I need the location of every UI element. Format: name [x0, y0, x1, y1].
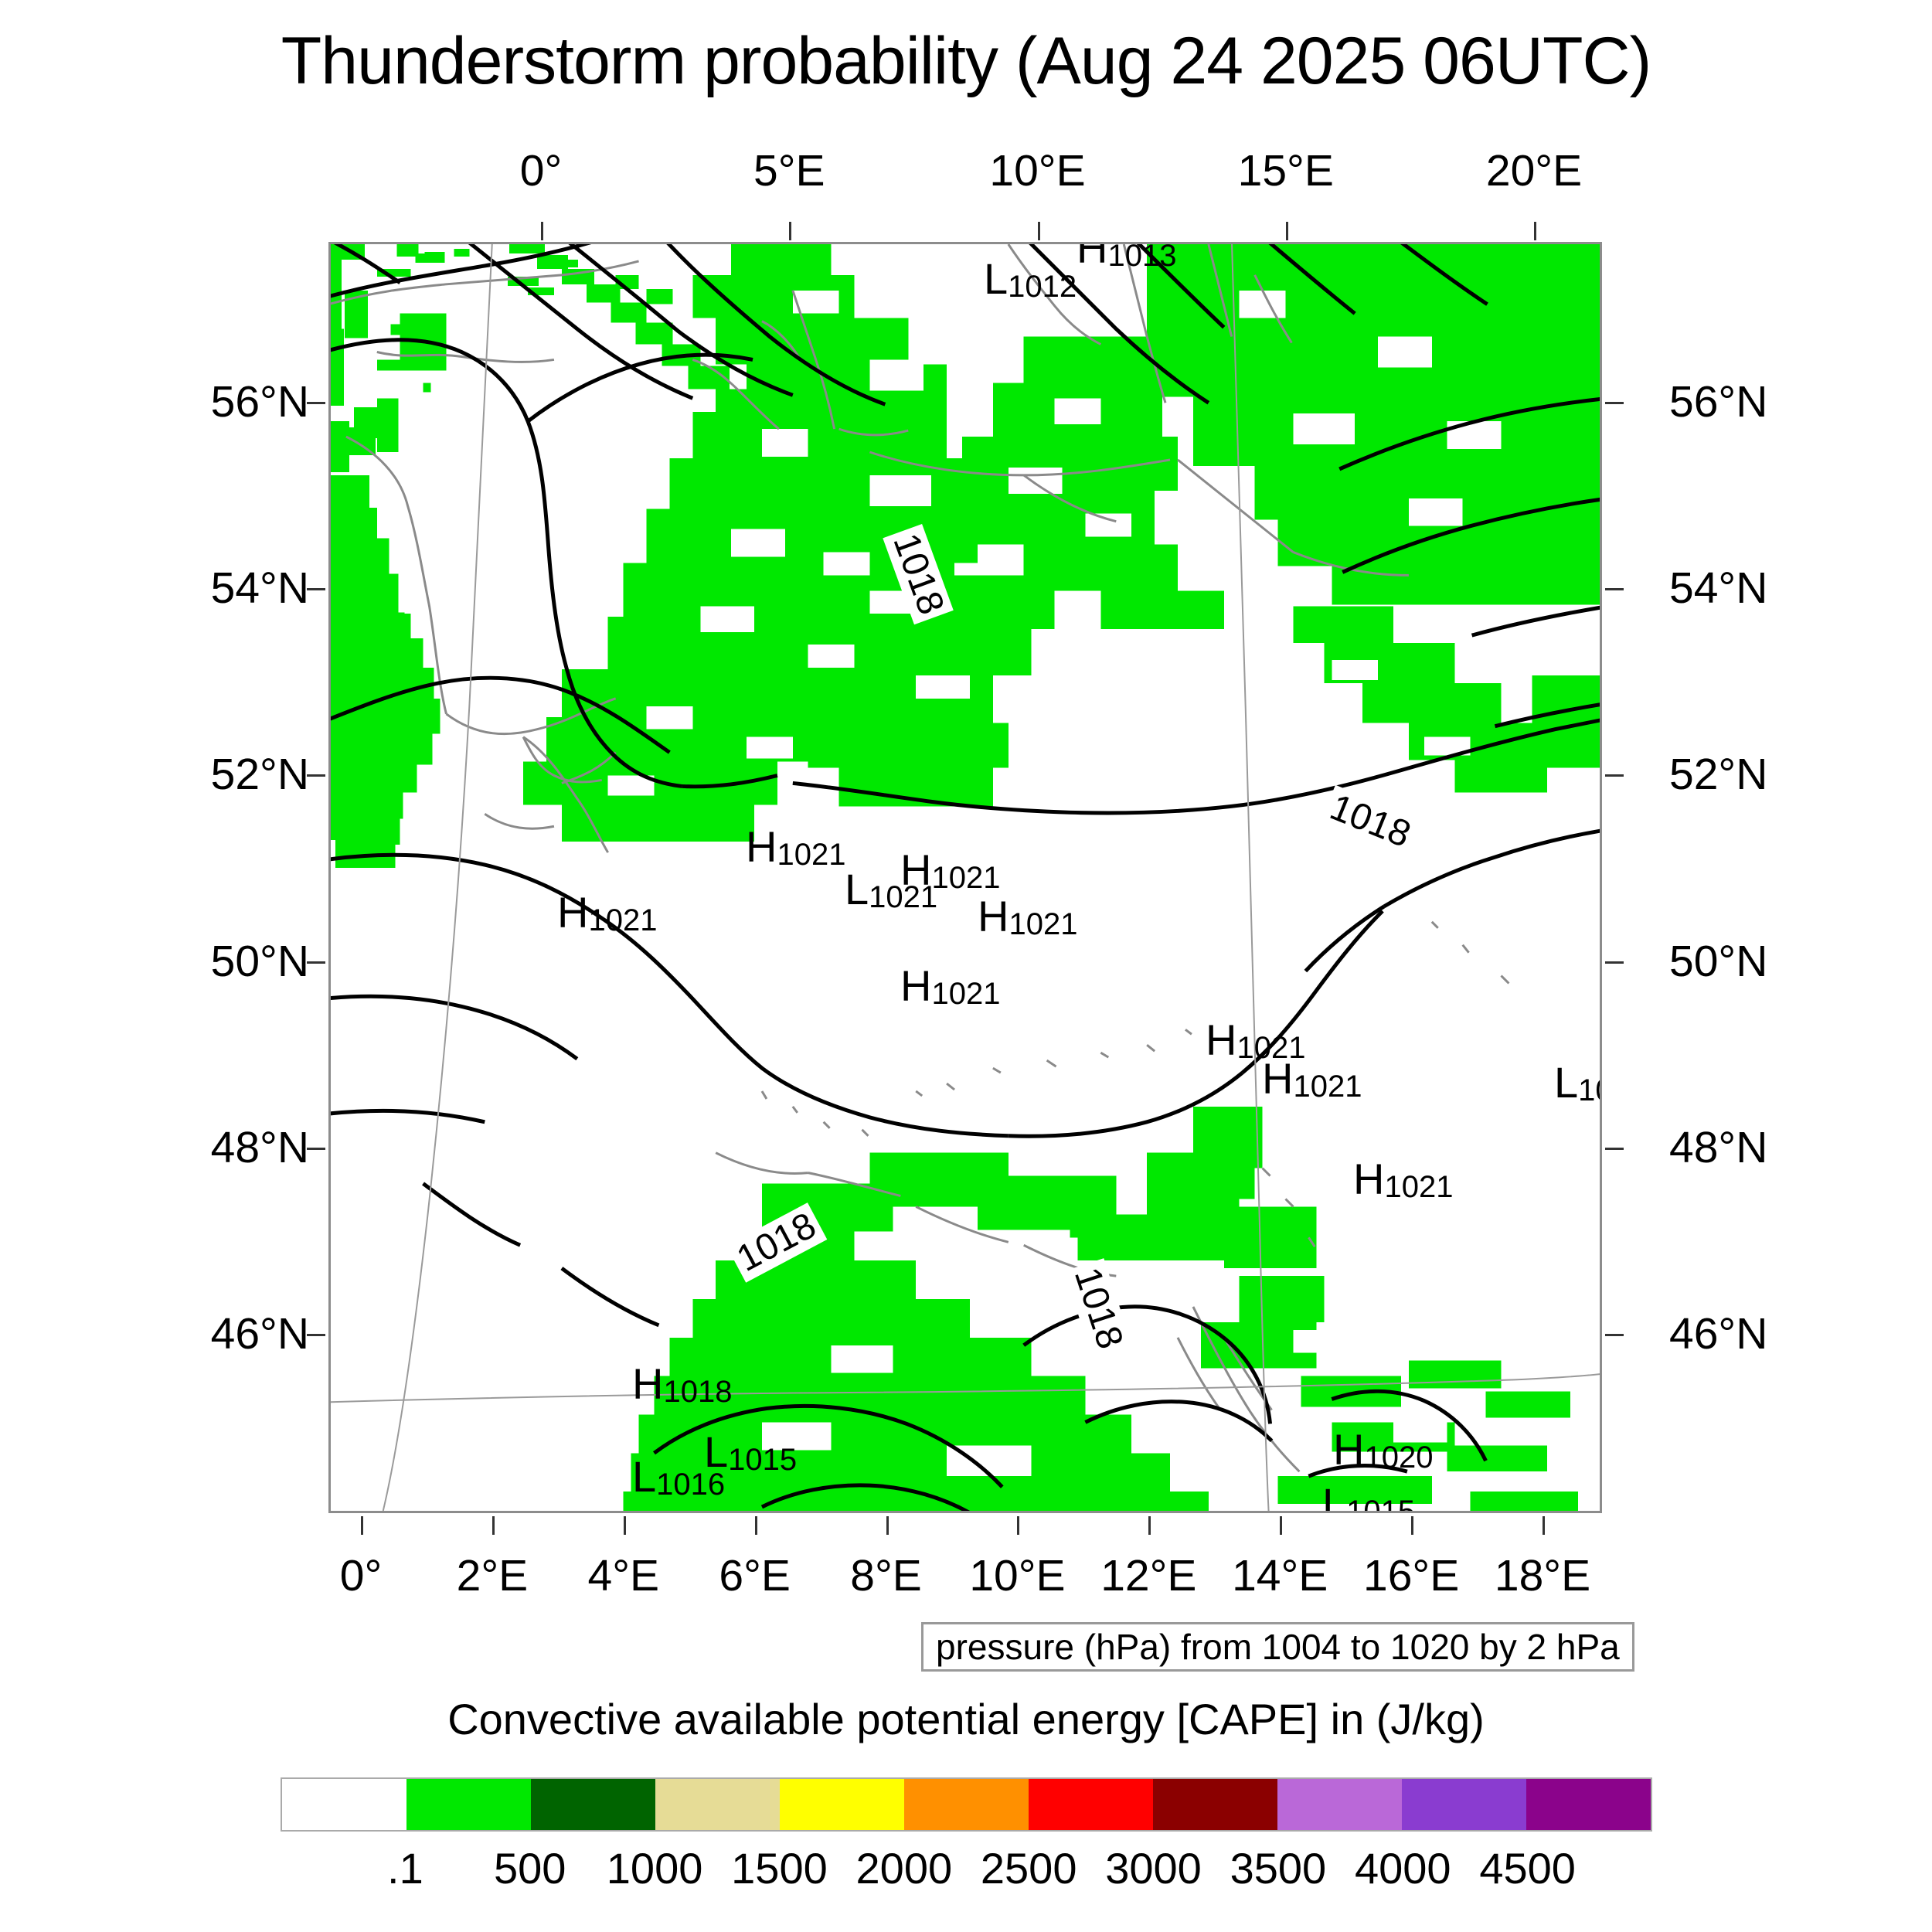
pressure-center-value: 1020 [1364, 1440, 1433, 1475]
lat-tick-left-5: 46°N [139, 1308, 309, 1359]
pressure-center-letter: H [1206, 1015, 1236, 1064]
colorbar-tick-6: 3000 [1105, 1843, 1202, 1893]
colorbar-segment-4[interactable] [780, 1779, 904, 1830]
lat-tickmark-left-1 [307, 588, 325, 590]
pressure-legend-box: pressure (hPa) from 1004 to 1020 by 2 hP… [921, 1622, 1634, 1672]
lon-tickmark-top-4 [1534, 222, 1536, 240]
colorbar-tick-4: 2000 [856, 1843, 953, 1893]
pressure-center-value: 1021 [777, 838, 845, 872]
lat-tickmark-left-0 [307, 402, 325, 404]
colorbar-tick-3: 1500 [731, 1843, 828, 1893]
lat-tick-left-3: 50°N [139, 936, 309, 987]
pressure-center-value: 1021 [931, 977, 1000, 1011]
colorbar-segment-2[interactable] [531, 1779, 655, 1830]
pressure-center-h-1: H1013 [1077, 242, 1176, 271]
lat-tickmark-left-5 [307, 1334, 325, 1336]
lon-tickmark-bottom-8 [1411, 1516, 1413, 1535]
lat-tick-right-3: 50°N [1669, 936, 1767, 987]
lon-tickmark-bottom-6 [1148, 1516, 1151, 1535]
colorbar-tick-9: 4500 [1479, 1843, 1576, 1893]
colorbar-segment-1[interactable] [406, 1779, 531, 1830]
lon-tickmark-bottom-2 [624, 1516, 626, 1535]
colorbar-segment-0[interactable] [282, 1779, 406, 1830]
lat-tick-left-1: 54°N [139, 563, 309, 614]
pressure-center-letter: L [1554, 1058, 1578, 1107]
pressure-center-letter: H [746, 822, 777, 871]
pressure-center-l-11: L10 [1554, 1061, 1602, 1106]
lon-tick-top-4: 20°E [1486, 145, 1582, 196]
lat-tick-right-5: 46°N [1669, 1308, 1767, 1359]
lat-tickmark-left-2 [307, 774, 325, 777]
lat-tick-right-4: 48°N [1669, 1122, 1767, 1173]
lon-tick-top-2: 10°E [989, 145, 1085, 196]
lat-tickmark-right-5 [1605, 1334, 1624, 1336]
pressure-center-value: 1015 [728, 1443, 797, 1477]
lon-tickmark-bottom-1 [492, 1516, 495, 1535]
colorbar-tick-5: 2500 [981, 1843, 1077, 1893]
pressure-center-h-9: H1021 [1262, 1057, 1362, 1102]
lon-tick-bottom-4: 8°E [850, 1550, 922, 1601]
pressure-center-letter: H [900, 845, 931, 894]
colorbar-title: Convective available potential energy [C… [0, 1694, 1932, 1744]
lat-tick-right-1: 54°N [1669, 563, 1767, 614]
pressure-legend-text: pressure (hPa) from 1004 to 1020 by 2 hP… [936, 1626, 1620, 1668]
pressure-center-l-14: L1015 [704, 1430, 797, 1475]
colorbar-tick-2: 1000 [607, 1843, 703, 1893]
colorbar-segment-7[interactable] [1153, 1779, 1277, 1830]
lat-tick-left-0: 56°N [139, 376, 309, 427]
lat-tickmark-left-4 [307, 1148, 325, 1150]
colorbar-segment-8[interactable] [1277, 1779, 1402, 1830]
pressure-center-letter: L [632, 1452, 656, 1501]
pressure-center-h-3: H1021 [557, 891, 657, 936]
pressure-center-letter: H [900, 961, 931, 1010]
colorbar-segment-3[interactable] [655, 1779, 780, 1830]
lat-tickmark-right-4 [1605, 1148, 1624, 1150]
pressure-center-value: 1021 [588, 903, 657, 937]
colorbar-tick-0: .1 [387, 1843, 423, 1893]
lon-tickmark-top-0 [541, 222, 543, 240]
colorbar-segment-10[interactable] [1526, 1779, 1651, 1830]
lon-tick-top-1: 5°E [753, 145, 825, 196]
pressure-center-value: 10 [1578, 1073, 1602, 1107]
lon-tick-bottom-3: 6°E [719, 1550, 791, 1601]
lon-tick-bottom-1: 2°E [457, 1550, 529, 1601]
lat-tick-left-4: 48°N [139, 1122, 309, 1173]
page-title: Thunderstorm probability (Aug 24 2025 06… [0, 23, 1932, 100]
lon-tickmark-top-3 [1286, 222, 1288, 240]
pressure-center-letter: H [1333, 1425, 1364, 1474]
colorbar-segment-9[interactable] [1402, 1779, 1526, 1830]
lat-tickmark-right-0 [1605, 402, 1624, 404]
pressure-center-letter: L [1322, 1479, 1346, 1513]
pressure-center-letter: H [557, 888, 588, 937]
lon-tickmark-top-2 [1038, 222, 1040, 240]
lat-tickmark-right-3 [1605, 961, 1624, 964]
pressure-center-h-12: H1018 [632, 1362, 732, 1407]
pressure-center-h-5: H1021 [900, 849, 1000, 893]
lat-tickmark-left-3 [307, 961, 325, 964]
colorbar-tick-1: 500 [494, 1843, 566, 1893]
lat-tickmark-right-1 [1605, 588, 1624, 590]
colorbar-tick-labels: .150010001500200025003000350040004500 [281, 1843, 1652, 1897]
lon-tickmark-bottom-5 [1017, 1516, 1019, 1535]
pressure-center-h-2: H1021 [746, 825, 845, 870]
lon-tick-bottom-8: 16°E [1363, 1550, 1459, 1601]
pressure-center-letter: L [845, 865, 869, 913]
lon-tickmark-bottom-4 [886, 1516, 889, 1535]
pressure-center-letter: H [1353, 1155, 1384, 1203]
lon-tickmark-bottom-7 [1280, 1516, 1282, 1535]
lon-tickmark-bottom-3 [755, 1516, 757, 1535]
pressure-center-value: 1021 [931, 861, 1000, 895]
lon-tickmark-bottom-0 [361, 1516, 363, 1535]
pressure-center-h-7: H1021 [900, 964, 1000, 1009]
lat-tick-right-0: 56°N [1669, 376, 1767, 427]
map-panel[interactable]: L1012H1013H1021H1021L1021H1021H1021H1021… [328, 242, 1602, 1513]
pressure-center-value: 1021 [1009, 907, 1077, 941]
pressure-center-value: 1012 [1008, 270, 1077, 304]
colorbar-tick-7: 3500 [1230, 1843, 1327, 1893]
pressure-center-h-6: H1021 [978, 895, 1077, 940]
lon-tick-top-3: 15°E [1238, 145, 1334, 196]
pressure-center-letter: L [984, 254, 1008, 303]
pressure-center-value: 1013 [1107, 242, 1176, 273]
pressure-center-letter: H [1077, 242, 1107, 272]
lon-tick-bottom-9: 18°E [1495, 1550, 1590, 1601]
lon-tick-top-0: 0° [520, 145, 563, 196]
pressure-center-h-10: H1021 [1353, 1158, 1453, 1202]
lat-tick-left-2: 52°N [139, 749, 309, 800]
pressure-center-value: 1015 [1346, 1495, 1415, 1513]
lon-tickmark-bottom-9 [1543, 1516, 1545, 1535]
pressure-center-value: 1021 [1384, 1170, 1453, 1204]
pressure-center-l-16: L1015 [1322, 1482, 1415, 1513]
pressure-center-value: 1018 [663, 1375, 732, 1409]
lon-tick-bottom-0: 0° [340, 1550, 383, 1601]
lon-tick-bottom-7: 14°E [1232, 1550, 1328, 1601]
colorbar[interactable] [281, 1777, 1652, 1832]
pressure-center-value: 1021 [1293, 1070, 1362, 1104]
pressure-center-l-0: L1012 [984, 257, 1077, 302]
lat-tick-right-2: 52°N [1669, 749, 1767, 800]
lon-tick-bottom-6: 12°E [1100, 1550, 1196, 1601]
pressure-center-h-15: H1020 [1333, 1428, 1433, 1473]
lon-tick-bottom-5: 10°E [969, 1550, 1065, 1601]
colorbar-segment-5[interactable] [904, 1779, 1029, 1830]
lon-tick-bottom-2: 4°E [588, 1550, 660, 1601]
colorbar-tick-8: 4000 [1355, 1843, 1451, 1893]
pressure-center-letter: H [978, 892, 1009, 940]
pressure-center-letter: L [704, 1427, 728, 1476]
pressure-center-letter: H [1262, 1054, 1293, 1103]
pressure-center-letter: H [632, 1359, 663, 1408]
lon-tickmark-top-1 [789, 222, 791, 240]
lat-tickmark-right-2 [1605, 774, 1624, 777]
colorbar-segment-6[interactable] [1029, 1779, 1153, 1830]
